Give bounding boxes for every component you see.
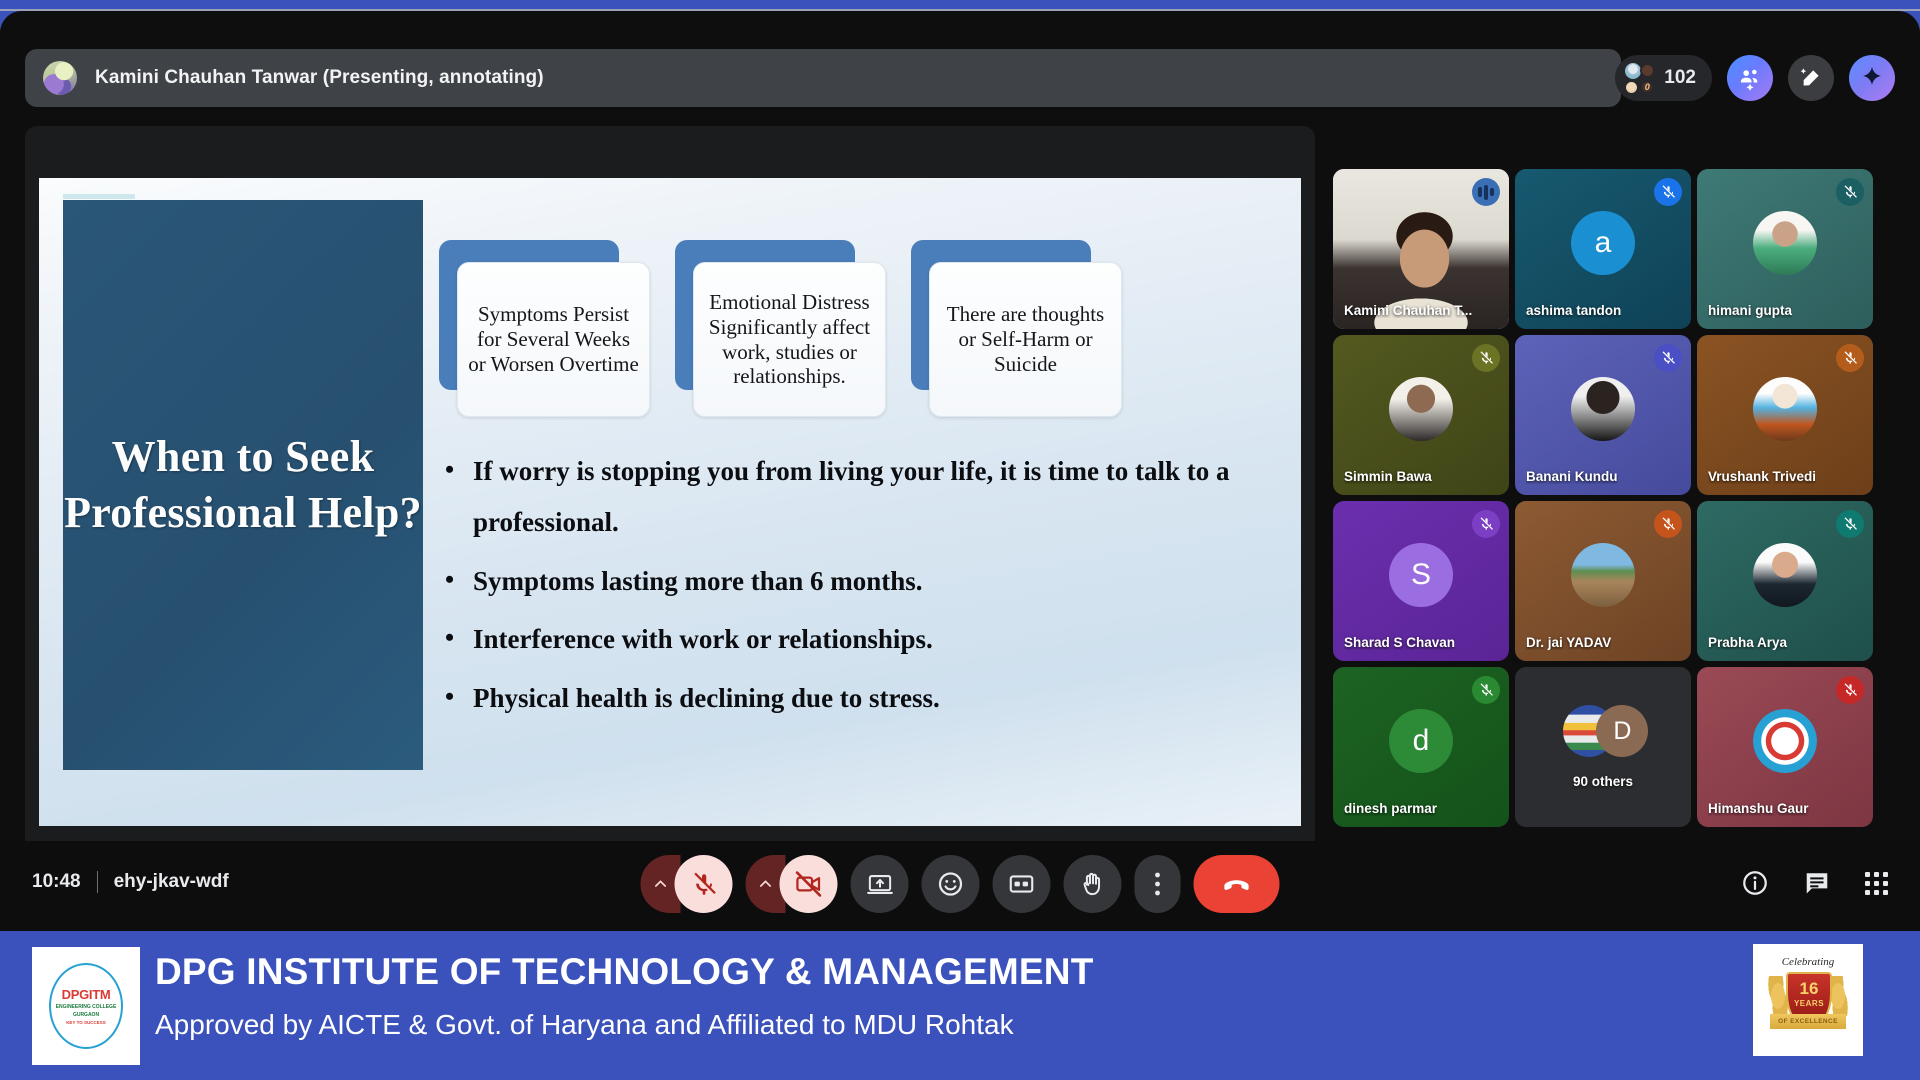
participant-tile[interactable]: Simmin Bawa (1333, 335, 1509, 495)
logo-acronym: DPGITM (62, 987, 111, 1002)
chat-icon[interactable] (1803, 869, 1831, 897)
grid-dot (1874, 890, 1879, 895)
participant-initial-avatar: a (1571, 211, 1635, 275)
slide-bullet: Interference with work or relationships. (437, 614, 1272, 665)
screen-root: Kamini Chauhan Tanwar (Presenting, annot… (0, 0, 1920, 1080)
dpgitm-logo: DPGITM ENGINEERING COLLEGE GURGAON KEY T… (32, 947, 140, 1065)
google-meet-window: Kamini Chauhan Tanwar (Presenting, annot… (0, 11, 1920, 931)
audio-level-icon (1472, 178, 1500, 206)
meeting-info-divider (97, 871, 98, 893)
institution-banner: DPGITM ENGINEERING COLLEGE GURGAON KEY T… (0, 931, 1920, 1080)
grid-dot (1883, 872, 1888, 877)
dpgitm-logo-inner: DPGITM ENGINEERING COLLEGE GURGAON KEY T… (49, 963, 123, 1049)
meeting-details-info-icon[interactable] (1741, 869, 1769, 897)
badge-celebrating-label: Celebrating (1760, 956, 1856, 968)
grid-dot (1874, 872, 1879, 877)
presenter-avatar (43, 61, 77, 95)
stack-avatar-2 (1640, 63, 1655, 78)
captions-cc-icon[interactable] (993, 855, 1051, 913)
call-controls (641, 855, 1280, 913)
microphone-muted-icon (1654, 178, 1682, 206)
camera-off-icon[interactable] (780, 855, 838, 913)
participant-count-label: 102 (1664, 67, 1696, 89)
anniversary-badge-art: Celebrating 16 YEARS OF EXCELLENCE (1760, 952, 1856, 1048)
participant-name: Simmin Bawa (1344, 469, 1432, 484)
slide-card: There are thoughts or Self-Harm or Suici… (911, 240, 1126, 418)
card-text: Symptoms Persist for Several Weeks or Wo… (466, 302, 641, 376)
participant-tile[interactable]: himani gupta (1697, 169, 1873, 329)
grid-dot (1865, 890, 1870, 895)
participant-initial-avatar: S (1389, 543, 1453, 607)
participant-tile[interactable]: Kamini Chauhan T... (1333, 169, 1509, 329)
participant-name: Dr. jai YADAV (1526, 635, 1611, 650)
slide-card: Symptoms Persist for Several Weeks or Wo… (439, 240, 654, 418)
participant-avatar-photo (1753, 211, 1817, 275)
participant-tile[interactable]: D90 others (1515, 667, 1691, 827)
participant-name: Kamini Chauhan T... (1344, 303, 1472, 318)
microphone-muted-icon (1836, 344, 1864, 372)
participant-name: Vrushank Trivedi (1708, 469, 1816, 484)
microphone-muted-icon (1654, 510, 1682, 538)
slide-bullet: Physical health is declining due to stre… (437, 673, 1272, 724)
microphone-muted-icon (1836, 510, 1864, 538)
grid-dot (1883, 881, 1888, 886)
logo-line-2: ENGINEERING COLLEGE (56, 1004, 117, 1010)
logo-line-3: GURGAON (73, 1012, 99, 1018)
card-front: Emotional Distress Significantly affect … (693, 262, 886, 417)
slide-accent-bar (63, 194, 135, 199)
end-call-button[interactable] (1194, 855, 1280, 913)
presentation-stage[interactable]: When to Seek Professional Help? Symptoms… (25, 126, 1315, 851)
participant-name: Prabha Arya (1708, 635, 1787, 650)
card-text: Emotional Distress Significantly affect … (702, 290, 877, 389)
participant-avatar-photo (1571, 543, 1635, 607)
microphone-muted-icon (1836, 676, 1864, 704)
banner-subtitle: Approved by AICTE & Govt. of Haryana and… (155, 1009, 1094, 1041)
participant-avatar-photo (1389, 377, 1453, 441)
microphone-muted-icon (1654, 344, 1682, 372)
participant-avatar-stack: 0 (1623, 61, 1655, 95)
participant-name: Banani Kundu (1526, 469, 1618, 484)
top-blue-strip (0, 0, 1920, 9)
participant-name: Himanshu Gaur (1708, 801, 1809, 816)
microphone-muted-icon[interactable] (675, 855, 733, 913)
participant-tile[interactable]: Dr. jai YADAV (1515, 501, 1691, 661)
grid-dot (1865, 872, 1870, 877)
participant-avatar-photo (1753, 709, 1817, 773)
participant-tile[interactable]: Himanshu Gaur (1697, 667, 1873, 827)
badge-years-label: YEARS (1794, 999, 1824, 1008)
bottom-right-actions (1741, 869, 1888, 897)
participant-name: 90 others (1515, 774, 1691, 789)
activities-apps-grid-icon[interactable] (1865, 872, 1888, 895)
grid-dot (1883, 890, 1888, 895)
others-avatar-second: D (1596, 705, 1648, 757)
participant-grid: Kamini Chauhan T...aashima tandonhimani … (1333, 169, 1895, 834)
slide-bullet: If worry is stopping you from living you… (437, 446, 1272, 548)
camera-control-group[interactable] (746, 855, 838, 913)
participant-name: Sharad S Chavan (1344, 635, 1455, 650)
present-screen-icon[interactable] (851, 855, 909, 913)
gemini-people-icon[interactable] (1727, 55, 1773, 101)
slide-title: When to Seek Professional Help? (63, 429, 423, 542)
raise-hand-icon[interactable] (1064, 855, 1122, 913)
presenter-label: Kamini Chauhan Tanwar (Presenting, annot… (95, 67, 544, 89)
stack-avatar-overflow: 0 (1640, 80, 1654, 94)
microphone-control-group[interactable] (641, 855, 733, 913)
participant-avatar-photo (1753, 543, 1817, 607)
microphone-muted-icon (1836, 178, 1864, 206)
microphone-muted-icon (1472, 510, 1500, 538)
slide-bullet-list: If worry is stopping you from living you… (437, 446, 1272, 732)
badge-number: 16 (1800, 980, 1819, 997)
meeting-time: 10:48 (32, 871, 81, 893)
participant-tile[interactable]: ddinesh parmar (1333, 667, 1509, 827)
meet-control-bar: 10:48 ehy-jkav-wdf (0, 841, 1920, 931)
participant-tile[interactable]: Vrushank Trivedi (1697, 335, 1873, 495)
meeting-info: 10:48 ehy-jkav-wdf (32, 871, 229, 893)
badge-ribbon: OF EXCELLENCE (1770, 1014, 1846, 1029)
presenter-banner[interactable]: Kamini Chauhan Tanwar (Presenting, annot… (25, 49, 1621, 107)
grid-dot (1865, 881, 1870, 886)
banner-title: DPG INSTITUTE OF TECHNOLOGY & MANAGEMENT (155, 951, 1094, 993)
sparkle-ai-icon[interactable] (1849, 55, 1895, 101)
dpgitm-logo-seal: DPGITM ENGINEERING COLLEGE GURGAON KEY T… (38, 952, 134, 1060)
participant-tile[interactable]: aashima tandon (1515, 169, 1691, 329)
participant-count-pill[interactable]: 0 102 (1615, 55, 1712, 101)
card-front: There are thoughts or Self-Harm or Suici… (929, 262, 1122, 417)
slide-card: Emotional Distress Significantly affect … (675, 240, 890, 418)
participant-tile[interactable]: Prabha Arya (1697, 501, 1873, 661)
meeting-code: ehy-jkav-wdf (114, 871, 229, 893)
microphone-muted-icon (1472, 676, 1500, 704)
participant-tile[interactable]: Banani Kundu (1515, 335, 1691, 495)
slide-canvas: When to Seek Professional Help? Symptoms… (39, 178, 1301, 826)
banner-text-block: DPG INSTITUTE OF TECHNOLOGY & MANAGEMENT… (155, 951, 1094, 1041)
participant-avatar-photo (1753, 377, 1817, 441)
microphone-muted-icon (1472, 344, 1500, 372)
card-text: There are thoughts or Self-Harm or Suici… (938, 302, 1113, 376)
slide-bullet: Symptoms lasting more than 6 months. (437, 556, 1272, 607)
participant-avatar-photo (1571, 377, 1635, 441)
card-front: Symptoms Persist for Several Weeks or Wo… (457, 262, 650, 417)
participant-initial-avatar: d (1389, 709, 1453, 773)
participant-name: himani gupta (1708, 303, 1792, 318)
participant-name: ashima tandon (1526, 303, 1621, 318)
logo-line-4: KEY TO SUCCESS (66, 1020, 106, 1025)
slide-title-panel: When to Seek Professional Help? (63, 200, 423, 770)
participant-tile[interactable]: SSharad S Chavan (1333, 501, 1509, 661)
anniversary-badge: Celebrating 16 YEARS OF EXCELLENCE (1753, 944, 1863, 1056)
reactions-emoji-icon[interactable] (922, 855, 980, 913)
stack-avatar-3 (1624, 80, 1639, 95)
slide-cards: Symptoms Persist for Several Weeks or Wo… (439, 240, 1289, 425)
grid-dot (1874, 881, 1879, 886)
more-options-icon[interactable] (1135, 855, 1181, 913)
header-actions: 0 102 (1615, 49, 1895, 107)
participant-name: dinesh parmar (1344, 801, 1437, 816)
magic-pen-icon[interactable] (1788, 55, 1834, 101)
